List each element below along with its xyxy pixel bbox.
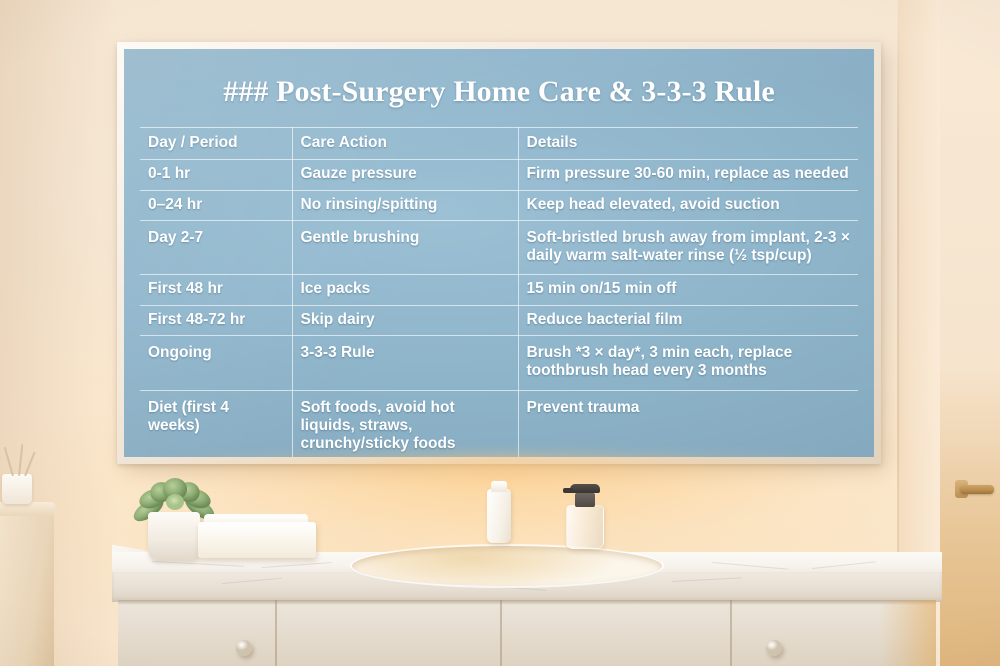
table-header-row: Day / Period Care Action Details: [140, 128, 858, 160]
cell-action: Gauze pressure: [292, 160, 518, 190]
table-row: 0–24 hr No rinsing/spitting Keep head el…: [140, 190, 858, 220]
white-pump-bottle[interactable]: [487, 489, 511, 543]
cell-details: Soft-bristled brush away from implant, 2…: [518, 220, 858, 275]
poster-frame[interactable]: ### Post-Surgery Home Care & 3-3-3 Rule …: [117, 42, 881, 464]
table-row: Ongoing 3-3-3 Rule Brush *3 × day*, 3 mi…: [140, 335, 858, 390]
sink-rim: [350, 544, 664, 588]
cabinet-warm-light: [880, 600, 936, 666]
cell-details: Brush *3 × day*, 3 min each, replace too…: [518, 335, 858, 390]
care-schedule-table: Day / Period Care Action Details 0-1 hr …: [140, 127, 858, 457]
cabinet-knob[interactable]: [236, 640, 252, 656]
soap-dispenser-nozzle: [563, 488, 573, 493]
cell-day: Day 2-7: [140, 220, 292, 275]
marble-vein: [262, 562, 332, 568]
soap-dispenser-pump[interactable]: [570, 484, 600, 493]
bathroom-door[interactable]: [940, 0, 1000, 666]
cell-day: Diet (first 4 weeks): [140, 390, 292, 457]
poster-title: ### Post-Surgery Home Care & 3-3-3 Rule: [124, 49, 874, 127]
cell-details: Prevent trauma: [518, 390, 858, 457]
cell-action: Skip dairy: [292, 305, 518, 335]
side-table: [0, 508, 54, 666]
plant-center: [166, 494, 184, 510]
cell-action: No rinsing/spitting: [292, 190, 518, 220]
cabinet-door-seam: [275, 600, 277, 666]
side-table-top: [0, 502, 56, 516]
table-row: Diet (first 4 weeks) Soft foods, avoid h…: [140, 390, 858, 457]
cell-action: Gentle brushing: [292, 220, 518, 275]
cabinet-door-seam: [500, 600, 502, 666]
marble-vein: [152, 561, 244, 567]
cell-details: Firm pressure 30-60 min, replace as need…: [518, 160, 858, 190]
bathroom-scene: ### Post-Surgery Home Care & 3-3-3 Rule …: [0, 0, 1000, 666]
cell-day: First 48 hr: [140, 275, 292, 305]
table-row: First 48 hr Ice packs 15 min on/15 min o…: [140, 275, 858, 305]
cell-day: First 48-72 hr: [140, 305, 292, 335]
cell-day: 0-1 hr: [140, 160, 292, 190]
succulent-plant-pot: [148, 512, 200, 560]
table-row: 0-1 hr Gauze pressure Firm pressure 30-6…: [140, 160, 858, 190]
cabinet-door-seam: [730, 600, 732, 666]
table-row: First 48-72 hr Skip dairy Reduce bacteri…: [140, 305, 858, 335]
marble-vein: [812, 561, 876, 569]
column-header-action: Care Action: [292, 128, 518, 160]
column-header-day: Day / Period: [140, 128, 292, 160]
door-handle-icon[interactable]: [960, 485, 994, 494]
marble-vein: [712, 562, 788, 570]
cell-action: Ice packs: [292, 275, 518, 305]
glass-soap-dispenser[interactable]: [566, 505, 604, 549]
marble-vein: [672, 577, 742, 582]
vanity-cabinet[interactable]: [118, 600, 936, 666]
cabinet-knob[interactable]: [766, 640, 782, 656]
white-pump-bottle-cap: [491, 481, 507, 492]
cell-day: Ongoing: [140, 335, 292, 390]
cabinet-top-shadow: [118, 600, 936, 605]
column-header-details: Details: [518, 128, 858, 160]
cell-day: 0–24 hr: [140, 190, 292, 220]
cell-details: 15 min on/15 min off: [518, 275, 858, 305]
folded-towel-stack: [198, 522, 316, 558]
cell-details: Keep head elevated, avoid suction: [518, 190, 858, 220]
reed-diffuser-vase: [2, 474, 32, 504]
marble-vein: [222, 578, 282, 584]
table-row: Day 2-7 Gentle brushing Soft-bristled br…: [140, 220, 858, 275]
cell-details: Reduce bacterial film: [518, 305, 858, 335]
poster-panel: ### Post-Surgery Home Care & 3-3-3 Rule …: [124, 49, 874, 457]
cell-action: 3-3-3 Rule: [292, 335, 518, 390]
cell-action: Soft foods, avoid hot liquids, straws, c…: [292, 390, 518, 457]
soap-dispenser-collar: [575, 493, 595, 507]
